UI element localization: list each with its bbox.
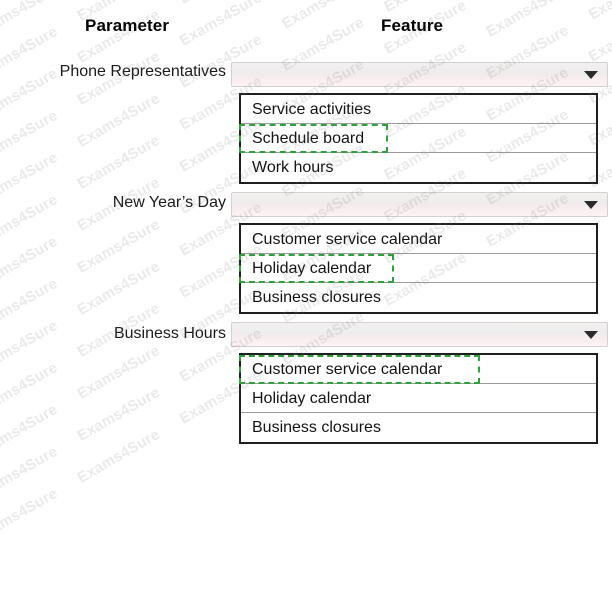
column-header-feature: Feature xyxy=(381,16,443,36)
option-list-new-years-day: Customer service calendarHoliday calenda… xyxy=(239,223,598,314)
option-item[interactable]: Business closures xyxy=(241,413,596,442)
combobox-phone-representatives[interactable] xyxy=(231,62,608,87)
parameter-label-business-hours: Business Hours xyxy=(0,325,226,343)
chevron-down-icon[interactable] xyxy=(576,193,606,216)
form-canvas: Parameter Feature Phone RepresentativesS… xyxy=(0,0,612,467)
option-item[interactable]: Holiday calendar xyxy=(241,254,596,283)
combobox-business-hours[interactable] xyxy=(231,322,608,347)
option-item[interactable]: Business closures xyxy=(241,283,596,312)
option-item[interactable]: Customer service calendar xyxy=(241,225,596,254)
option-item[interactable]: Service activities xyxy=(241,95,596,124)
chevron-down-icon[interactable] xyxy=(576,323,606,346)
parameter-label-phone-representatives: Phone Representatives xyxy=(0,63,226,81)
chevron-down-icon[interactable] xyxy=(576,63,606,86)
option-item[interactable]: Schedule board xyxy=(241,124,596,153)
combobox-new-years-day[interactable] xyxy=(231,192,608,217)
option-item[interactable]: Customer service calendar xyxy=(241,355,596,384)
parameter-label-new-years-day: New Year’s Day xyxy=(0,194,226,212)
column-header-parameter: Parameter xyxy=(85,16,169,36)
option-item[interactable]: Work hours xyxy=(241,153,596,182)
option-item[interactable]: Holiday calendar xyxy=(241,384,596,413)
option-list-phone-representatives: Service activitiesSchedule boardWork hou… xyxy=(239,93,598,184)
option-list-business-hours: Customer service calendarHoliday calenda… xyxy=(239,353,598,444)
